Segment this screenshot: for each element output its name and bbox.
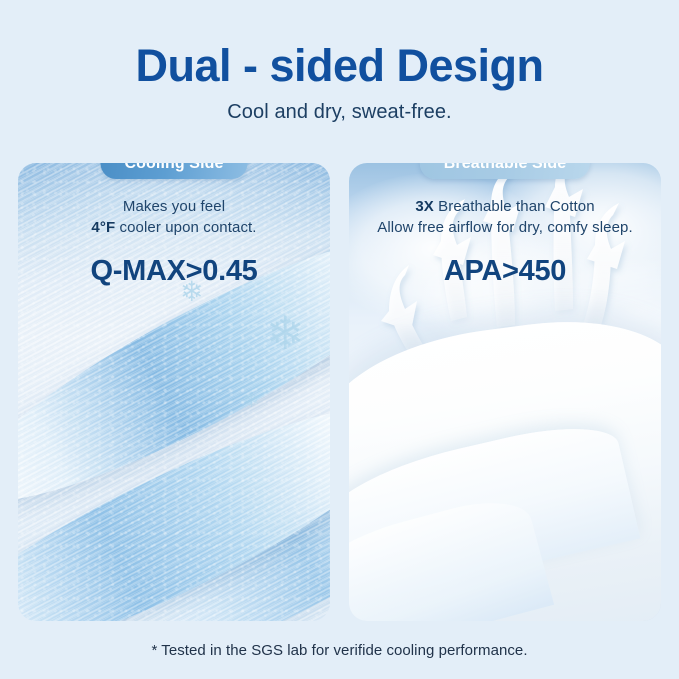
page-title: Dual - sided Design	[0, 0, 679, 91]
footnote-text: * Tested in the SGS lab for verifide coo…	[0, 641, 679, 661]
panel-group: ❄ ❄ ❄ Makes you feel 4°F cooler upon con…	[18, 163, 661, 621]
cooling-line-1: Makes you feel	[18, 196, 330, 217]
cooling-temp-value: 4°F	[91, 219, 115, 236]
footer: * Tested in the SGS lab for verifide coo…	[0, 641, 679, 661]
breathable-copy-block: 3X Breathable than Cotton Allow free air…	[349, 196, 661, 288]
badge-breathable-side: Breathable Side	[420, 163, 590, 179]
cooling-line-2-rest: cooler upon contact.	[115, 219, 256, 236]
panel-cooling-side: ❄ ❄ ❄ Makes you feel 4°F cooler upon con…	[18, 163, 330, 621]
snowflake-icon: ❄	[243, 391, 260, 411]
breathable-line-1: 3X Breathable than Cotton	[349, 196, 661, 217]
panel-breathable-side: 3X Breathable than Cotton Allow free air…	[349, 163, 661, 621]
page-subtitle: Cool and dry, sweat-free.	[0, 91, 679, 125]
breathable-metric-value: APA>450	[349, 238, 661, 288]
cooling-metric-value: Q-MAX>0.45	[18, 238, 330, 288]
breathable-multiplier-value: 3X	[415, 198, 434, 215]
snowflake-icon: ❄	[266, 310, 305, 356]
cooling-line-2: 4°F cooler upon contact.	[18, 217, 330, 238]
header: Dual - sided Design Cool and dry, sweat-…	[0, 0, 679, 125]
cooling-copy-block: Makes you feel 4°F cooler upon contact. …	[18, 196, 330, 288]
breathable-line-1-rest: Breathable than Cotton	[434, 198, 595, 215]
breathable-line-2: Allow free airflow for dry, comfy sleep.	[349, 217, 661, 238]
infographic-poster: Dual - sided Design Cool and dry, sweat-…	[0, 0, 679, 679]
badge-cooling-side: Cooling Side	[101, 163, 248, 179]
